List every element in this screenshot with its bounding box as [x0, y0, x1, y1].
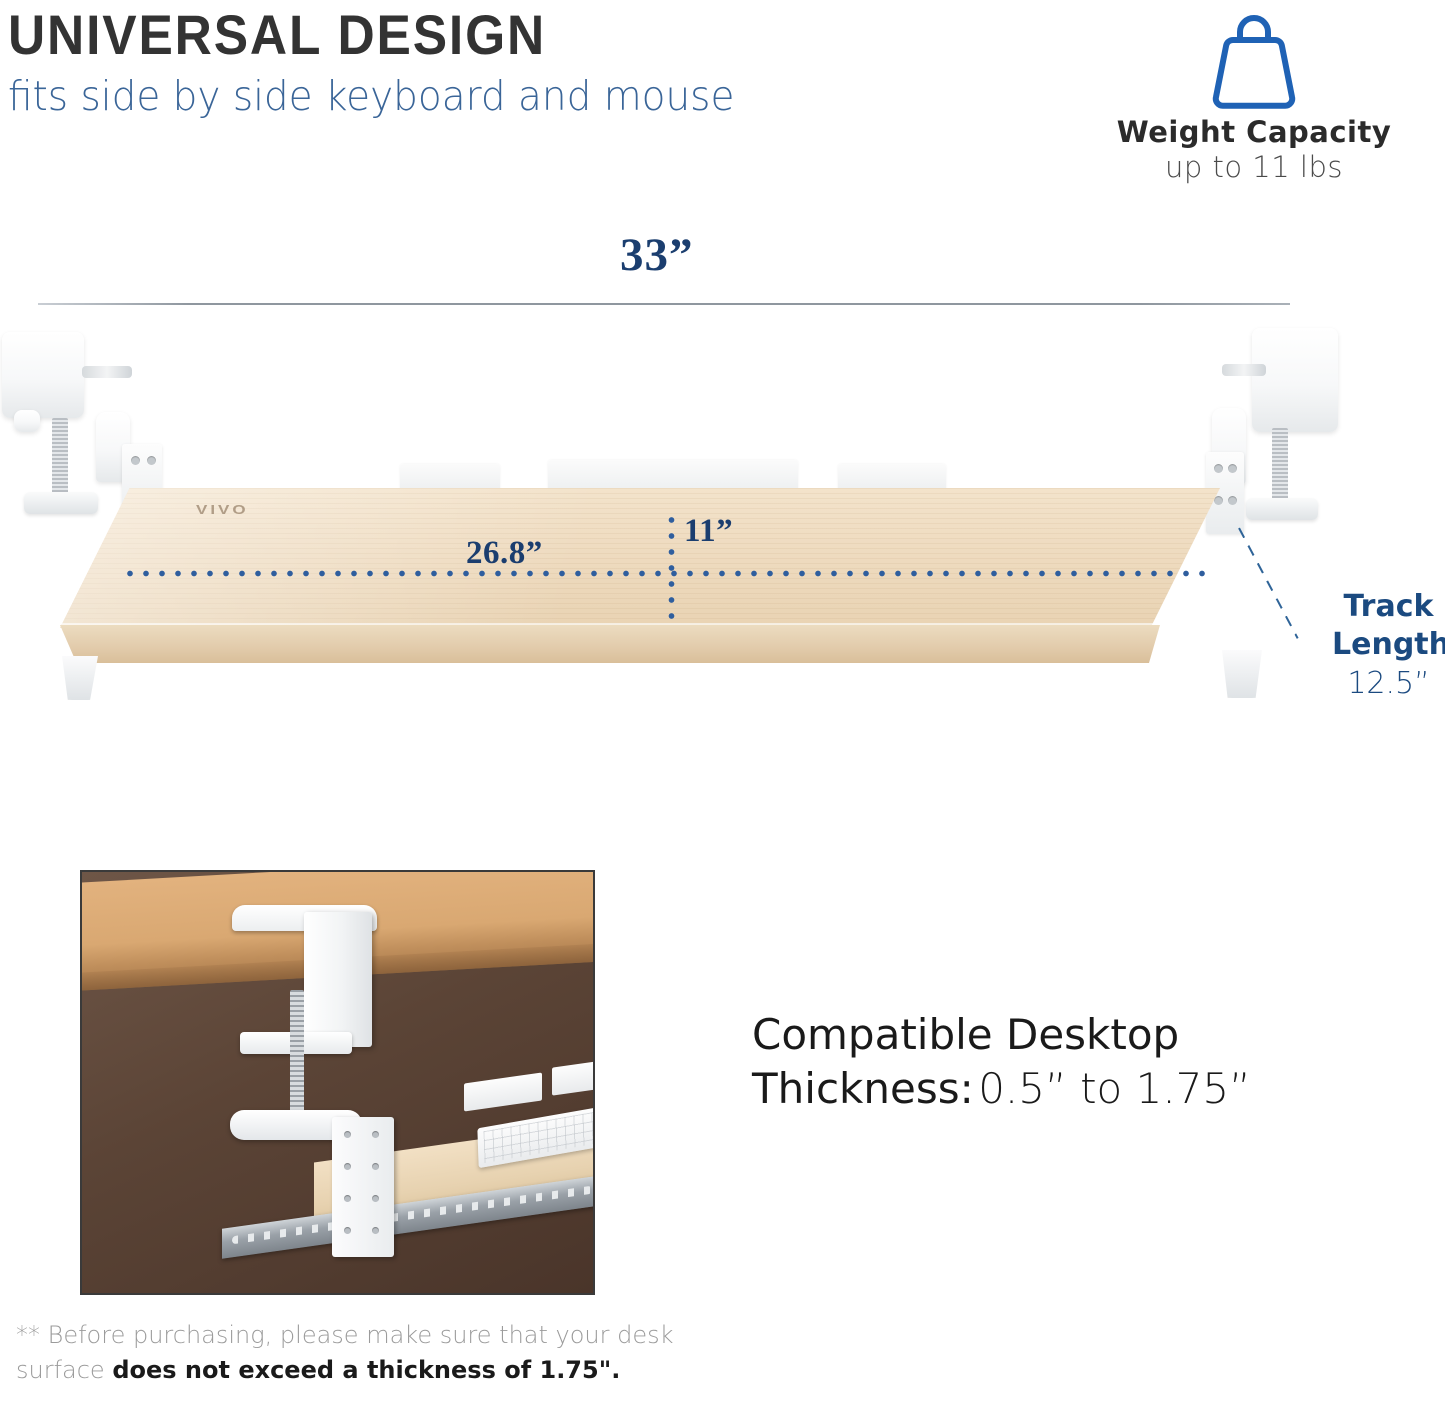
tray-support-left [62, 656, 98, 700]
photo-mounting-bracket [332, 1117, 394, 1257]
purchase-footnote: ** Before purchasing, please make sure t… [16, 1318, 756, 1388]
rear-stopper [838, 464, 946, 490]
compatible-thickness-value: 0.5” to 1.75” [978, 1064, 1251, 1113]
vivo-logo: VIVO [196, 503, 249, 518]
photo-clamp-column [304, 912, 372, 1047]
page-headline: UNIVERSAL DESIGN [8, 2, 546, 67]
dimension-overall-width: 33” [620, 228, 694, 282]
footnote-emphasis: does not exceed a thickness of 1.75". [112, 1356, 620, 1384]
dimension-line-depth [668, 512, 675, 620]
clamp-detail-photo: VIVO [80, 870, 595, 1295]
weight-capacity-title: Weight Capacity [1078, 116, 1430, 149]
compatible-thickness-label-line1: Compatible Desktop [752, 1010, 1179, 1059]
rear-stopper [400, 464, 500, 490]
photo-rear-stopper [552, 1060, 595, 1095]
weight-capacity-value: up to 11 lbs [1078, 149, 1430, 187]
compatible-thickness-label-line2: Thickness: [752, 1064, 974, 1113]
infographic-page: UNIVERSAL DESIGN fits side by side keybo… [0, 0, 1445, 1404]
dimension-tray-width: 26.8” [466, 535, 543, 572]
track-length-title: Track Length [1332, 588, 1445, 665]
dimension-tray-depth: 11” [684, 513, 733, 550]
dimension-line-width [122, 570, 1212, 577]
keyboard-tray-front-edge [60, 625, 1160, 663]
overall-width-rule [38, 303, 1290, 305]
page-subheadline: fits side by side keyboard and mouse [8, 72, 734, 120]
tray-support-right [1222, 650, 1262, 698]
weight-icon [1207, 6, 1301, 110]
track-length-value: 12.5” [1332, 665, 1445, 703]
compatible-thickness-text: Compatible Desktop Thickness: 0.5” to 1.… [752, 1008, 1352, 1116]
rear-stopper [548, 460, 798, 490]
track-length-label: Track Length 12.5” [1332, 588, 1445, 703]
weight-capacity-badge: Weight Capacity up to 11 lbs [1078, 6, 1430, 187]
photo-clamp-screw [290, 990, 304, 1125]
